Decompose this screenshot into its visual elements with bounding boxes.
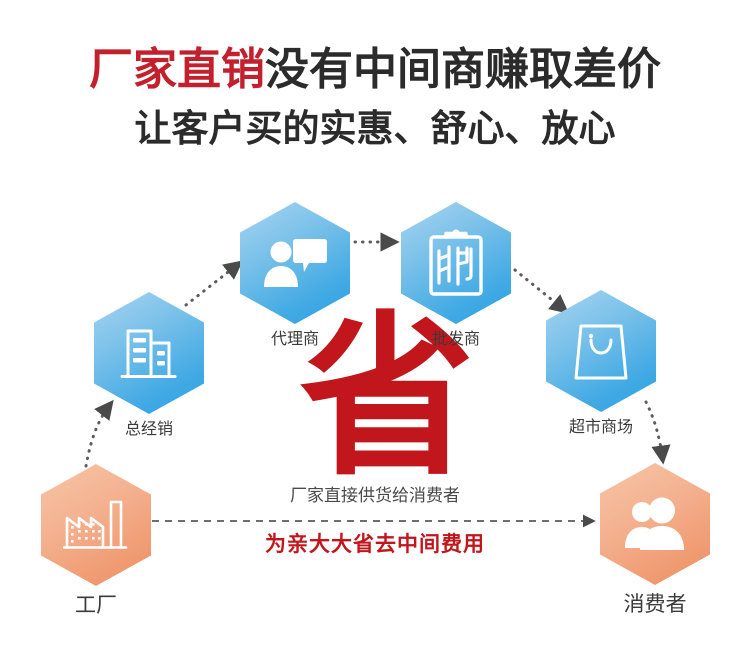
node-label-distributor: 总经销: [94, 420, 204, 440]
node-label-market: 超市商场: [546, 418, 656, 438]
hexagon-agent: [240, 202, 350, 324]
hexagon-consumer: [600, 463, 710, 585]
node-label-consumer: 消费者: [600, 595, 710, 615]
headline-primary: 厂家直销没有中间商赚取差价: [0, 44, 750, 96]
hexagon-wholesaler: [401, 202, 511, 324]
hexagon-distributor: [94, 292, 204, 414]
hexagon-factory: [41, 464, 151, 586]
supply-chain-diagram: 省: [0, 180, 750, 659]
node-label-wholesaler: 批发商: [401, 330, 511, 350]
node-label-agent: 代理商: [240, 330, 350, 350]
node-market[interactable]: 超市商场: [546, 290, 656, 438]
headline-subtitle: 让客户买的实惠、舒心、放心: [0, 106, 750, 152]
node-wholesaler[interactable]: 批发商: [401, 202, 511, 350]
direct-supply-text: 厂家直接供货给消费者: [0, 485, 750, 507]
headline-highlight: 厂家直销: [89, 45, 265, 94]
hexagon-market: [546, 290, 656, 412]
clipboard-pi-icon: [427, 229, 485, 297]
office-buildings-icon: [118, 323, 180, 383]
headline-rest: 没有中间商赚取差价: [265, 45, 661, 94]
shopping-bag-icon: [572, 320, 630, 382]
person-chat-icon: [262, 234, 328, 292]
node-agent[interactable]: 代理商: [240, 202, 350, 350]
node-distributor[interactable]: 总经销: [94, 292, 204, 440]
header-banner: 厂家直销没有中间商赚取差价 让客户买的实惠、舒心、放心: [0, 0, 750, 180]
saving-message-text: 为亲大大省去中间费用: [0, 532, 750, 558]
node-label-factory: 工厂: [41, 596, 151, 616]
